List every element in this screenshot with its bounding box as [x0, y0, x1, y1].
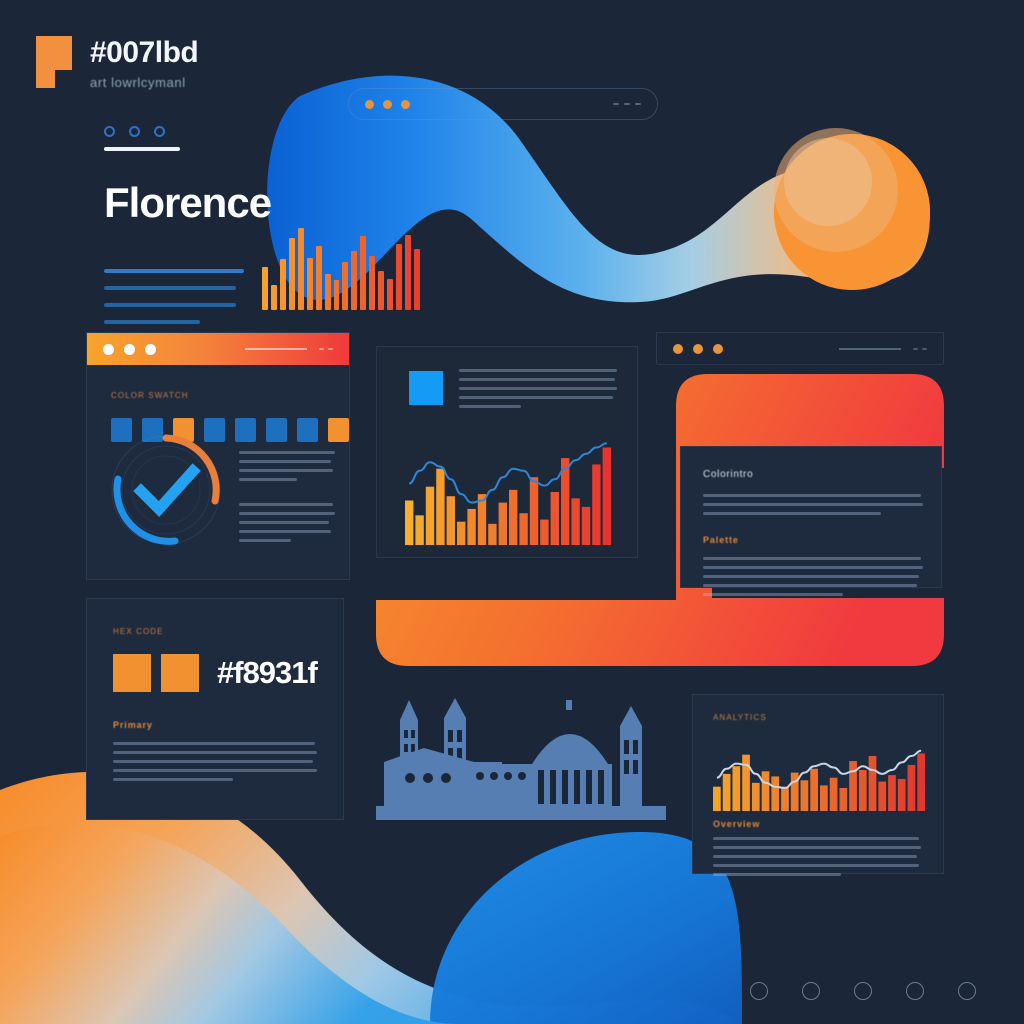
- titlebar-rule: [839, 348, 901, 350]
- card-a-text-blocks: [239, 451, 337, 542]
- window-control-marks: [613, 103, 641, 105]
- pagination-dot[interactable]: [906, 982, 924, 1000]
- bar: [723, 774, 731, 811]
- bar: [713, 787, 721, 811]
- swatch[interactable]: [161, 654, 199, 692]
- bar: [888, 775, 896, 811]
- window-traffic-lights[interactable]: [365, 100, 410, 109]
- hero-rule: [104, 147, 180, 151]
- titlebar-rule: [245, 348, 307, 350]
- florence-skyline-icon: [376, 690, 666, 820]
- bar: [791, 773, 799, 811]
- bar: [820, 785, 828, 811]
- bar: [752, 783, 760, 811]
- card-f-label: Analytics: [713, 713, 925, 722]
- pagination-dot[interactable]: [958, 982, 976, 1000]
- paragraph-lines: [239, 503, 337, 542]
- bar: [810, 769, 818, 811]
- card-hex-code[interactable]: hex code #f8931f Primary: [86, 598, 344, 820]
- swatch[interactable]: [113, 654, 151, 692]
- bar: [414, 249, 420, 310]
- card-d-subheading: Primary: [113, 720, 319, 730]
- bottom-bar-chart: [713, 741, 925, 811]
- paragraph-lines: [239, 451, 337, 481]
- card-c-heading: Colorintro: [703, 469, 921, 480]
- swatch[interactable]: [266, 418, 287, 442]
- hex-value: #f8931f: [217, 655, 317, 691]
- brand-subtitle: art lowrlcymanl: [90, 75, 198, 90]
- bar: [360, 236, 366, 310]
- card-skyline: [376, 690, 666, 820]
- flag-block-logo-icon: [36, 36, 72, 88]
- card-d-label: hex code: [113, 627, 319, 636]
- hero-block: Florence: [104, 126, 354, 324]
- checkmark-progress-icon: [105, 429, 227, 551]
- card-c-content[interactable]: Colorintro Palette: [680, 446, 942, 588]
- bar: [830, 778, 838, 811]
- card-c-titlebar[interactable]: [656, 332, 944, 364]
- window-dot-minimize-icon[interactable]: [383, 100, 392, 109]
- titlebar-marks: [913, 348, 927, 350]
- paragraph-lines: [713, 837, 921, 876]
- bar: [849, 761, 857, 811]
- poster-canvas: #007lbd art lowrlcymanl Florence: [0, 0, 1024, 1024]
- bar: [859, 770, 867, 811]
- bar: [387, 279, 393, 310]
- hex-row: #f8931f: [113, 654, 319, 692]
- brand-title: #007lbd: [90, 38, 198, 68]
- window-dot-maximize-icon[interactable]: [401, 100, 410, 109]
- card-a-titlebar[interactable]: [87, 333, 349, 365]
- window-dot-close-icon[interactable]: [365, 100, 374, 109]
- bar: [839, 788, 847, 811]
- bar: [898, 779, 906, 811]
- pagination-dot[interactable]: [854, 982, 872, 1000]
- paragraph-lines: [703, 494, 921, 515]
- card-c-subheading: Palette: [703, 535, 921, 545]
- swatch[interactable]: [328, 418, 349, 442]
- paragraph-lines: [113, 742, 319, 781]
- hero-title: Florence: [104, 179, 354, 227]
- bar: [732, 766, 740, 811]
- bar: [781, 787, 789, 811]
- paragraph-lines: [703, 557, 921, 596]
- bar: [378, 271, 384, 310]
- window-traffic-lights[interactable]: [103, 344, 156, 355]
- bar: [869, 756, 877, 811]
- swatch[interactable]: [297, 418, 318, 442]
- card-a-label: color swatch: [111, 391, 349, 400]
- ring-dot-icon: [129, 126, 140, 137]
- hero-dot-row: [104, 126, 354, 137]
- bar: [742, 755, 750, 811]
- card-swatches-progress[interactable]: color swatch: [86, 332, 350, 580]
- bar: [396, 244, 402, 310]
- pagination-dot[interactable]: [750, 982, 768, 1000]
- pagination-dot[interactable]: [802, 982, 820, 1000]
- browser-window-bar[interactable]: [348, 88, 658, 120]
- swatch[interactable]: [235, 418, 256, 442]
- card-bottom-chart[interactable]: Analytics Overview: [692, 694, 944, 874]
- hero-placeholder-lines: [104, 269, 354, 324]
- card-f-subheading: Overview: [713, 819, 760, 829]
- bar: [369, 256, 375, 310]
- bar: [762, 771, 770, 811]
- ring-dot-icon: [104, 126, 115, 137]
- bar: [878, 782, 886, 811]
- bar: [917, 753, 925, 811]
- bar: [801, 780, 809, 811]
- brand-header: #007lbd art lowrlcymanl: [36, 36, 198, 90]
- window-traffic-lights[interactable]: [673, 344, 723, 354]
- pagination-dots[interactable]: [750, 982, 976, 1000]
- bar: [771, 776, 779, 811]
- ring-dot-icon: [154, 126, 165, 137]
- titlebar-marks: [319, 348, 333, 350]
- bar: [908, 765, 916, 811]
- bar: [405, 235, 411, 310]
- hex-swatch-group[interactable]: [113, 654, 199, 692]
